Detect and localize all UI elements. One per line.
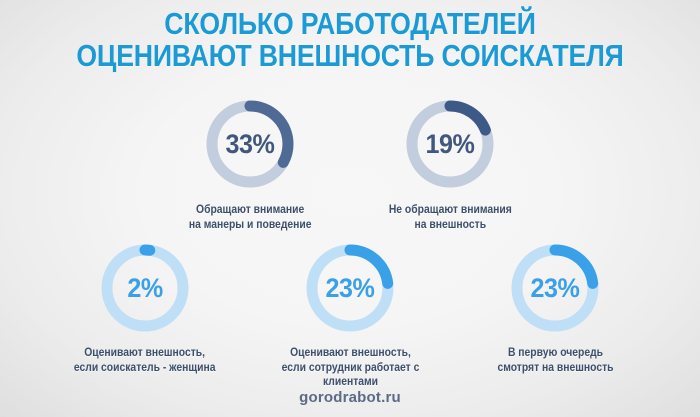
donut-row-bottom: 2% Оценивают внешность, если соискатель …: [0, 240, 700, 390]
page-title: СКОЛЬКО РАБОТОДАТЕЛЕЙ ОЦЕНИВАЮТ ВНЕШНОСТ…: [0, 8, 700, 72]
donut-row-top: 33% Обращают внимание на манеры и поведе…: [0, 96, 700, 232]
donut-caption: Обращают внимание на манеры и поведение: [189, 203, 312, 232]
stat-card: 23% Оценивают внешность, если сотрудник …: [248, 240, 453, 390]
title-line-1: СКОЛЬКО РАБОТОДАТЕЛЕЙ: [49, 8, 651, 40]
donut-value: 19%: [405, 96, 494, 192]
donut-value: 2%: [100, 240, 189, 336]
donut-value: 33%: [205, 96, 294, 192]
stat-card: 33% Обращают внимание на манеры и поведе…: [150, 96, 350, 232]
donut-caption: Не обращают внимания на внешность: [389, 203, 512, 232]
donut-value: 23%: [305, 240, 394, 336]
donut-chart: 33%: [202, 96, 298, 192]
donut-caption: Оценивают внешность, если сотрудник рабо…: [258, 346, 443, 390]
donut-chart: 19%: [402, 96, 498, 192]
donut-chart: 23%: [507, 240, 603, 336]
stat-card: 19% Не обращают внимания на внешность: [350, 96, 550, 232]
stat-card: 2% Оценивают внешность, если соискатель …: [43, 240, 248, 390]
site-watermark: gorodrabot.ru: [0, 389, 700, 406]
donut-chart: 2%: [97, 240, 193, 336]
donut-chart: 23%: [302, 240, 398, 336]
donut-caption: Оценивают внешность, если соискатель - ж…: [74, 346, 216, 375]
stat-card: 23% В первую очередь смотрят на внешност…: [453, 240, 658, 390]
donut-caption: В первую очередь смотрят на внешность: [497, 346, 613, 375]
donut-value: 23%: [510, 240, 599, 336]
title-line-2: ОЦЕНИВАЮТ ВНЕШНОСТЬ СОИСКАТЕЛЯ: [49, 40, 651, 72]
infographic-canvas: СКОЛЬКО РАБОТОДАТЕЛЕЙ ОЦЕНИВАЮТ ВНЕШНОСТ…: [0, 0, 700, 417]
